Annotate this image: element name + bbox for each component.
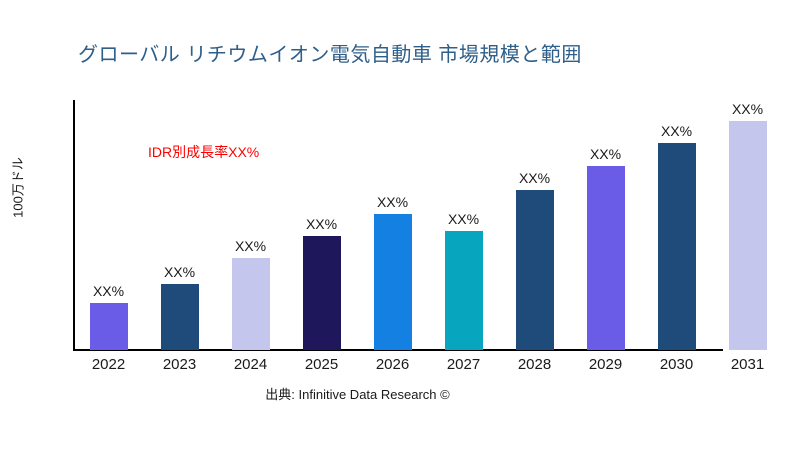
bar-group-2022: XX% — [73, 100, 144, 350]
bar-2025[interactable] — [303, 236, 341, 350]
bar-group-2024: XX% — [215, 100, 286, 350]
y-axis-label: 100万ドル — [8, 138, 27, 238]
bar-2030[interactable] — [658, 143, 696, 350]
chart-title: グローバル リチウムイオン電気自動車 市場規模と範囲 — [78, 38, 582, 67]
chart-figure: グローバル リチウムイオン電気自動車 市場規模と範囲 100万ドル IDR別成長… — [0, 0, 800, 450]
bar-value-label-2030: XX% — [661, 123, 692, 139]
bar-group-2030: XX% — [641, 100, 712, 350]
bar-value-label-2025: XX% — [306, 216, 337, 232]
bar-value-label-2031: XX% — [732, 101, 763, 117]
bar-2031[interactable] — [729, 121, 767, 350]
bar-2022[interactable] — [90, 303, 128, 350]
x-tick-label-2022: 2022 — [73, 356, 144, 373]
bar-value-label-2028: XX% — [519, 170, 550, 186]
x-tick-label-2026: 2026 — [357, 356, 428, 373]
bar-2028[interactable] — [516, 190, 554, 350]
x-tick-label-2030: 2030 — [641, 356, 712, 373]
bar-group-2027: XX% — [428, 100, 499, 350]
bar-value-label-2024: XX% — [235, 238, 266, 254]
bar-value-label-2023: XX% — [164, 264, 195, 280]
bar-2023[interactable] — [161, 284, 199, 350]
bar-value-label-2026: XX% — [377, 194, 408, 210]
bar-value-label-2029: XX% — [590, 146, 621, 162]
x-tick-label-2031: 2031 — [712, 356, 783, 373]
bar-value-label-2022: XX% — [93, 283, 124, 299]
bar-2029[interactable] — [587, 166, 625, 350]
x-tick-label-2025: 2025 — [286, 356, 357, 373]
plot-area: XX%XX%XX%XX%XX%XX%XX%XX%XX%XX% — [73, 100, 785, 350]
x-tick-label-2027: 2027 — [428, 356, 499, 373]
x-tick-label-2024: 2024 — [215, 356, 286, 373]
bar-group-2031: XX% — [712, 100, 783, 350]
x-tick-label-2029: 2029 — [570, 356, 641, 373]
bar-group-2023: XX% — [144, 100, 215, 350]
bar-value-label-2027: XX% — [448, 211, 479, 227]
x-tick-label-2028: 2028 — [499, 356, 570, 373]
source-note: 出典: Infinitive Data Research © — [0, 384, 715, 403]
bar-group-2029: XX% — [570, 100, 641, 350]
bar-group-2028: XX% — [499, 100, 570, 350]
bar-2024[interactable] — [232, 258, 270, 350]
bar-group-2026: XX% — [357, 100, 428, 350]
bar-2027[interactable] — [445, 231, 483, 350]
x-tick-label-2023: 2023 — [144, 356, 215, 373]
bar-2026[interactable] — [374, 214, 412, 350]
bar-group-2025: XX% — [286, 100, 357, 350]
